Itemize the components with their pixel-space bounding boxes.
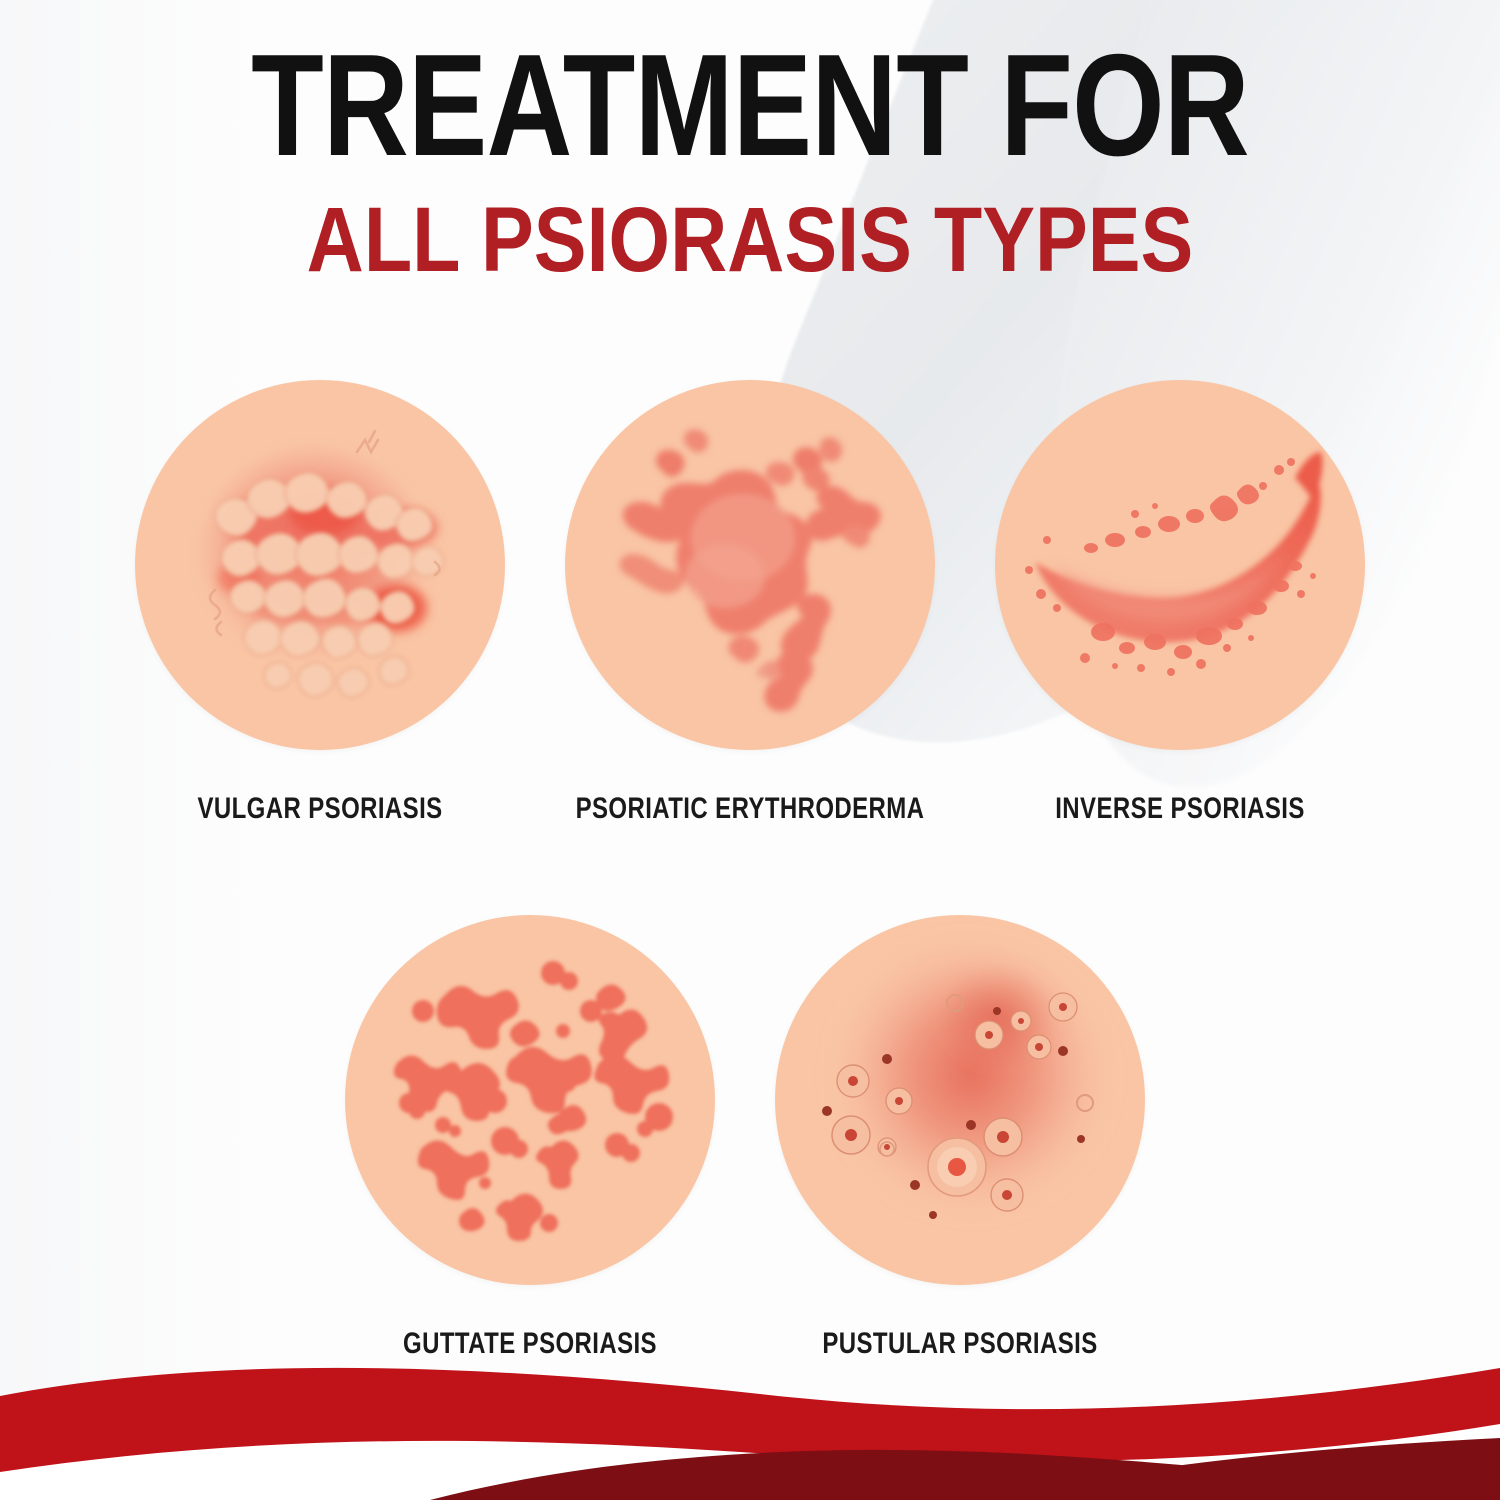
illustration-inverse-psoriasis [995,380,1365,750]
caption-vulgar-psoriasis: VULGAR PSORIASIS [197,792,442,826]
vulgar-psoriasis-svg [135,380,505,750]
card-guttate-psoriasis[interactable]: GUTTATE PSORIASIS [345,915,715,1375]
caption-psoriatic-erythroderma: PSORIATIC ERYTHRODERMA [576,792,925,826]
card-inverse-psoriasis[interactable]: INVERSE PSORIASIS [995,380,1365,840]
card-pustular-psoriasis[interactable]: PUSTULAR PSORIASIS [775,915,1145,1375]
title-block: TREATMENT FOR ALL PSIORASIS TYPES [0,34,1500,286]
footer-wave-decoration [0,1360,1500,1500]
illustration-guttate-psoriasis [345,915,715,1285]
caption-inverse-psoriasis: INVERSE PSORIASIS [1055,792,1305,826]
illustration-pustular-psoriasis [775,915,1145,1285]
page-title: TREATMENT FOR [135,34,1365,176]
guttate-psoriasis-svg [345,915,715,1285]
row-2: GUTTATE PSORIASIS [0,915,1500,1375]
inverse-psoriasis-svg [995,380,1365,750]
psoriatic-erythroderma-svg [565,380,935,750]
row-1: VULGAR PSORIASIS [0,380,1500,840]
page-subtitle: ALL PSIORASIS TYPES [105,194,1395,286]
caption-pustular-psoriasis: PUSTULAR PSORIASIS [822,1327,1097,1361]
caption-guttate-psoriasis: GUTTATE PSORIASIS [403,1327,657,1361]
pustular-psoriasis-svg [775,915,1145,1285]
illustration-vulgar-psoriasis [135,380,505,750]
illustration-psoriatic-erythroderma [565,380,935,750]
poster-root: TREATMENT FOR ALL PSIORASIS TYPES [0,0,1500,1500]
card-vulgar[interactable]: VULGAR PSORIASIS [135,380,505,840]
card-psoriatic-erythroderma[interactable]: PSORIATIC ERYTHRODERMA [565,380,935,840]
